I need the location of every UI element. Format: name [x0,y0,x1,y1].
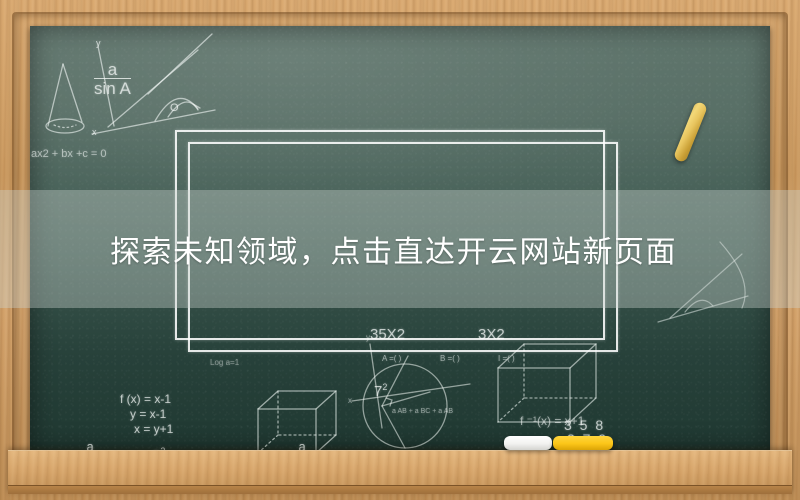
chalk-matrix-b: B =( ) [440,354,460,363]
chalk-vector-sum-note: a AB + a BC + a AB [392,408,453,415]
chalk-ledge-lip [8,485,792,494]
chalk-fraction-a-sinA-bottomleft: a sin A [76,440,104,450]
chalk-exponent-seven: 72 [374,382,387,400]
chalk-axis-label-x-right: x [348,396,352,405]
chalk-matrix-i: I =( ) [498,354,515,363]
chalk-quadratic-equation: ax2 + bx +c = 0 [31,148,107,160]
chalk-axis-label-x-topleft: x [92,127,97,137]
chalk-fraction-a-sinA-bottomcenter: a sin A [288,440,316,450]
chalk-angle-label-o: O [170,102,179,114]
white-chalk-stick [504,436,552,450]
screenshot-root: a sin A y x O ax2 + bx +c = 0 f (x) = x-… [0,0,800,500]
chalk-function-line-1: f (x) = x-1 [120,392,171,407]
headline-banner: 探索未知领域，点击直达开云网站新页面 [0,190,800,308]
chalk-matrix-a: A =( ) [382,354,401,363]
chalk-axis-label-y-topleft: y [96,38,101,48]
chalk-log-note: Log a=1 [210,358,239,367]
page-title: 探索未知领域，点击直达开云网站新页面 [0,227,677,271]
yellow-chalk-stick-tray [553,436,613,450]
chalk-function-line-2: y = x-1 [130,407,166,422]
chalk-function-line-3: x = y+1 [134,422,173,437]
chalk-fraction-a-sinA-topleft: a sin A [94,61,131,98]
